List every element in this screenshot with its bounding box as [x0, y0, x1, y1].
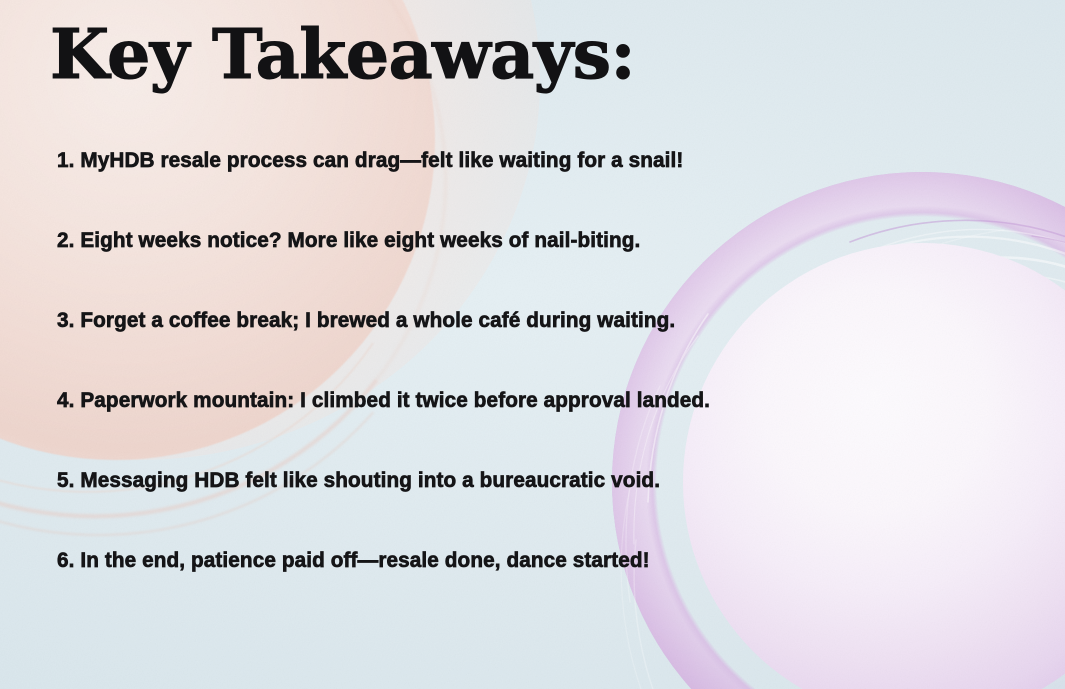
takeaway-item-6: 6. In the end, patience paid off—resale …: [57, 550, 983, 572]
takeaway-item-1: 1. MyHDB resale process can drag—felt li…: [57, 150, 983, 172]
slide-canvas: Key Takeaways: 1. MyHDB resale process c…: [0, 0, 1065, 689]
page-title: Key Takeaways:: [50, 18, 635, 93]
slide-content: Key Takeaways: 1. MyHDB resale process c…: [0, 0, 1065, 689]
takeaway-item-4: 4. Paperwork mountain: I climbed it twic…: [57, 390, 983, 412]
takeaway-item-5: 5. Messaging HDB felt like shouting into…: [57, 470, 983, 492]
takeaway-item-2: 2. Eight weeks notice? More like eight w…: [57, 230, 983, 252]
takeaway-item-3: 3. Forget a coffee break; I brewed a who…: [57, 310, 983, 332]
takeaway-list: 1. MyHDB resale process can drag—felt li…: [57, 150, 1017, 572]
